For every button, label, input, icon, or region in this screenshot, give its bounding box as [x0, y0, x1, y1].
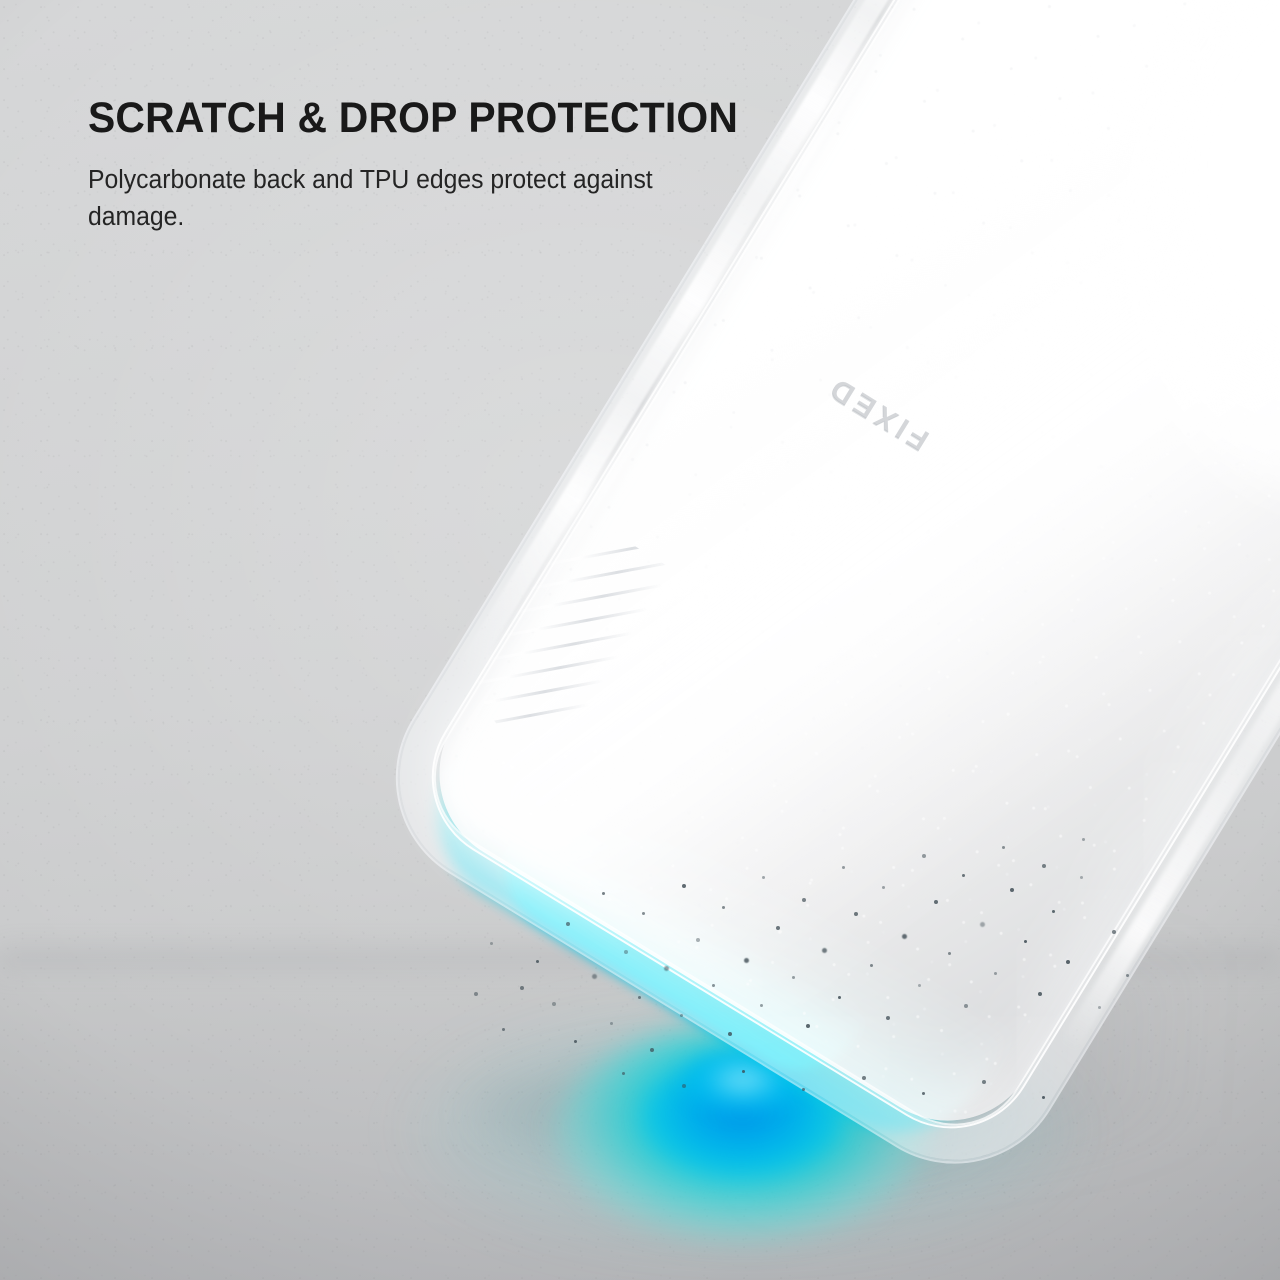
page-subtitle: Polycarbonate back and TPU edges protect… — [88, 162, 709, 236]
page-title: SCRATCH & DROP PROTECTION — [88, 96, 753, 141]
product-hero-image: FIXED SCRATCH & DROP PROTECTION Polycarb… — [0, 0, 1280, 1280]
copy-block: SCRATCH & DROP PROTECTION Polycarbonate … — [88, 96, 788, 236]
